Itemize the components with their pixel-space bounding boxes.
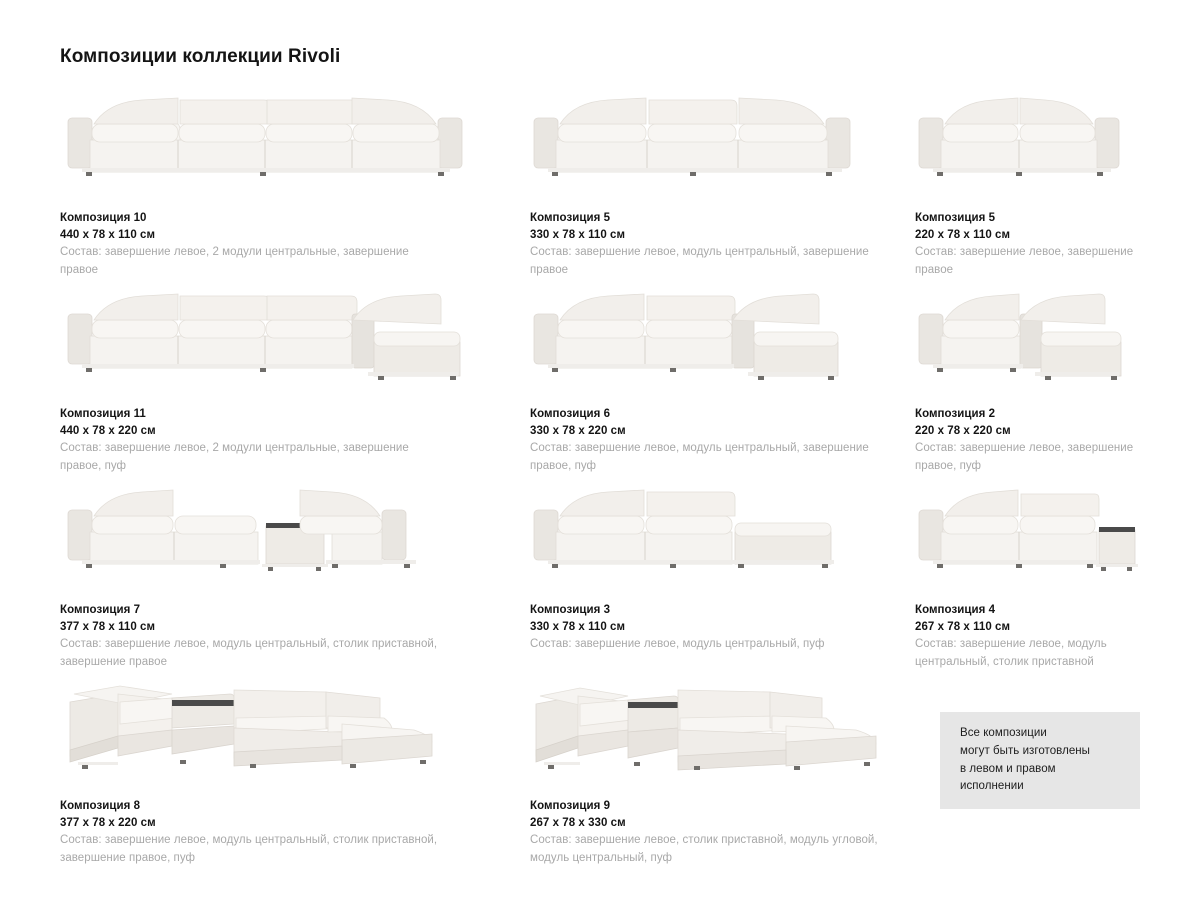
composition-parts: Состав: завершение левое, модуль централ… bbox=[915, 636, 1140, 671]
composition-dimensions: 377 x 78 x 110 см bbox=[60, 619, 530, 636]
composition-dimensions: 440 x 78 x 110 см bbox=[60, 227, 530, 244]
composition-dimensions: 267 x 78 x 330 см bbox=[530, 815, 915, 832]
page-title: Композиции коллекции Rivoli bbox=[60, 46, 340, 68]
composition-dimensions: 330 x 78 x 220 см bbox=[530, 423, 915, 440]
composition-name: Композиция 8 bbox=[60, 798, 530, 815]
composition-meta: Композиция 4 267 x 78 x 110 см Состав: з… bbox=[915, 576, 1140, 671]
composition-meta: Композиция 10 440 x 78 x 110 см Состав: … bbox=[60, 184, 530, 279]
sofa-corner-perspective-with-table-and-puff-illustration bbox=[60, 676, 530, 772]
composition-card[interactable]: Композиция 4 267 x 78 x 110 см Состав: з… bbox=[915, 480, 1140, 676]
composition-parts: Состав: завершение левое, модуль централ… bbox=[530, 440, 888, 475]
composition-parts: Состав: завершение левое, 2 модули центр… bbox=[60, 244, 438, 279]
note-box: Все композиции могут быть изготовлены в … bbox=[940, 712, 1140, 809]
composition-meta: Композиция 5 330 x 78 x 110 см Состав: з… bbox=[530, 184, 915, 279]
composition-dimensions: 220 x 78 x 220 см bbox=[915, 423, 1140, 440]
composition-meta: Композиция 7 377 x 78 x 110 см Состав: з… bbox=[60, 576, 530, 671]
composition-dimensions: 220 x 78 x 110 см bbox=[915, 227, 1140, 244]
sofa-2-module-with-end-table-illustration bbox=[915, 480, 1140, 576]
composition-card[interactable]: Композиция 10 440 x 78 x 110 см Состав: … bbox=[60, 88, 530, 284]
composition-dimensions: 330 x 78 x 110 см bbox=[530, 619, 915, 636]
composition-meta: Композиция 11 440 x 78 x 220 см Состав: … bbox=[60, 380, 530, 475]
composition-meta: Композиция 3 330 x 78 x 110 см Состав: з… bbox=[530, 576, 915, 654]
composition-parts: Состав: завершение левое, завершение пра… bbox=[915, 440, 1140, 475]
composition-name: Композиция 9 bbox=[530, 798, 915, 815]
composition-card[interactable]: Композиция 5 330 x 78 x 110 см Состав: з… bbox=[530, 88, 915, 284]
sofa-4-module-with-puff-illustration bbox=[60, 284, 530, 380]
sofa-2-module-with-side-puff-illustration bbox=[530, 480, 915, 576]
catalog-page: Композиции коллекции Rivoli bbox=[0, 0, 1200, 900]
composition-dimensions: 440 x 78 x 220 см bbox=[60, 423, 530, 440]
sofa-2-module-straight-illustration bbox=[915, 88, 1140, 184]
sofa-3-module-with-table-illustration bbox=[60, 480, 530, 576]
sofa-3-module-straight-illustration bbox=[530, 88, 915, 184]
composition-parts: Состав: завершение левое, столик пристав… bbox=[530, 832, 888, 867]
composition-meta: Композиция 6 330 x 78 x 220 см Состав: з… bbox=[530, 380, 915, 475]
composition-parts: Состав: завершение левое, модуль централ… bbox=[60, 832, 438, 867]
sofa-2-module-with-puff-illustration bbox=[915, 284, 1140, 380]
composition-name: Композиция 5 bbox=[915, 210, 1140, 227]
composition-parts: Состав: завершение левое, модуль централ… bbox=[530, 244, 888, 279]
composition-card[interactable]: Композиция 8 377 x 78 x 220 см Состав: з… bbox=[60, 676, 530, 876]
composition-name: Композиция 7 bbox=[60, 602, 530, 619]
composition-name: Композиция 11 bbox=[60, 406, 530, 423]
sofa-3-module-with-puff-illustration bbox=[530, 284, 915, 380]
composition-meta: Композиция 2 220 x 78 x 220 см Состав: з… bbox=[915, 380, 1140, 475]
composition-meta: Композиция 8 377 x 78 x 220 см Состав: з… bbox=[60, 772, 530, 867]
composition-card[interactable]: Композиция 6 330 x 78 x 220 см Состав: з… bbox=[530, 284, 915, 480]
sofa-corner-perspective-l-shape-with-puff-illustration bbox=[530, 676, 915, 772]
composition-name: Композиция 2 bbox=[915, 406, 1140, 423]
composition-name: Композиция 4 bbox=[915, 602, 1140, 619]
composition-card[interactable]: Композиция 9 267 x 78 x 330 см Состав: з… bbox=[530, 676, 915, 876]
composition-parts: Состав: завершение левое, 2 модули центр… bbox=[60, 440, 438, 475]
composition-card[interactable]: Композиция 5 220 x 78 x 110 см Состав: з… bbox=[915, 88, 1140, 284]
note-text: Все композиции могут быть изготовлены в … bbox=[960, 725, 1090, 796]
composition-card[interactable]: Композиция 2 220 x 78 x 220 см Состав: з… bbox=[915, 284, 1140, 480]
composition-name: Композиция 5 bbox=[530, 210, 915, 227]
composition-meta: Композиция 9 267 x 78 x 330 см Состав: з… bbox=[530, 772, 915, 867]
composition-meta: Композиция 5 220 x 78 x 110 см Состав: з… bbox=[915, 184, 1140, 279]
composition-dimensions: 377 x 78 x 220 см bbox=[60, 815, 530, 832]
composition-name: Композиция 3 bbox=[530, 602, 915, 619]
composition-name: Композиция 10 bbox=[60, 210, 530, 227]
composition-dimensions: 330 x 78 x 110 см bbox=[530, 227, 915, 244]
composition-card[interactable]: Композиция 11 440 x 78 x 220 см Состав: … bbox=[60, 284, 530, 480]
composition-dimensions: 267 x 78 x 110 см bbox=[915, 619, 1140, 636]
composition-parts: Состав: завершение левое, модуль централ… bbox=[60, 636, 438, 671]
composition-card[interactable]: Композиция 7 377 x 78 x 110 см Состав: з… bbox=[60, 480, 530, 676]
composition-name: Композиция 6 bbox=[530, 406, 915, 423]
composition-card[interactable]: Композиция 3 330 x 78 x 110 см Состав: з… bbox=[530, 480, 915, 676]
sofa-4-module-straight-illustration bbox=[60, 88, 530, 184]
composition-parts: Состав: завершение левое, модуль централ… bbox=[530, 636, 888, 653]
composition-parts: Состав: завершение левое, завершение пра… bbox=[915, 244, 1140, 279]
